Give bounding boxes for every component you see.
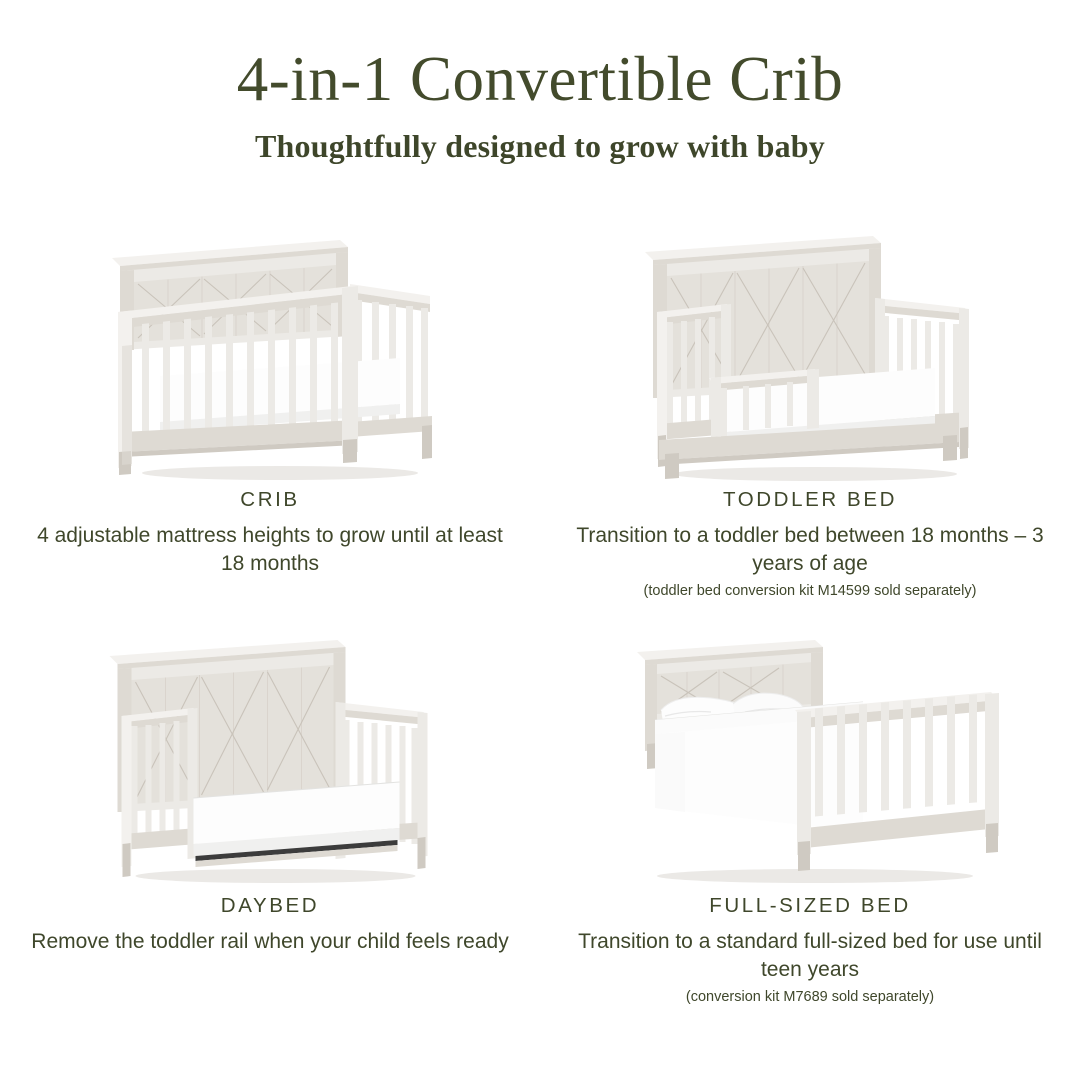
daybed-caption-title: DAYBED xyxy=(24,894,516,919)
toddler-bed-caption-body: Transition to a toddler bed between 18 m… xyxy=(564,522,1056,578)
crib-figure xyxy=(0,226,540,488)
full-sized-bed-caption-body: Transition to a standard full-sized bed … xyxy=(564,928,1056,984)
daybed-caption: DAYBED Remove the toddler rail when your… xyxy=(0,894,540,956)
daybed-caption-body: Remove the toddler rail when your child … xyxy=(24,928,516,956)
page-title: 4-in-1 Convertible Crib xyxy=(0,48,1080,111)
full-sized-bed-caption: FULL-SIZED BED Transition to a standard … xyxy=(540,894,1080,1007)
config-cell-toddler-bed: TODDLER BED Transition to a toddler bed … xyxy=(540,226,1080,632)
config-cell-full-sized-bed: FULL-SIZED BED Transition to a standard … xyxy=(540,632,1080,1032)
daybed-photo xyxy=(98,632,443,890)
toddler-bed-figure xyxy=(540,226,1080,488)
full-sized-bed-photo xyxy=(615,632,1005,890)
page-subtitle: Thoughtfully designed to grow with baby xyxy=(0,129,1080,164)
crib-caption-body: 4 adjustable mattress heights to grow un… xyxy=(24,522,516,578)
toddler-bed-caption-title: TODDLER BED xyxy=(564,488,1056,513)
full-sized-bed-figure xyxy=(540,632,1080,894)
config-cell-daybed: DAYBED Remove the toddler rail when your… xyxy=(0,632,540,1032)
crib-caption: CRIB 4 adjustable mattress heights to gr… xyxy=(0,488,540,577)
full-sized-bed-caption-note: (conversion kit M7689 sold separately) xyxy=(564,988,1056,1007)
crib-photo xyxy=(100,226,440,488)
crib-caption-title: CRIB xyxy=(24,488,516,513)
daybed-figure xyxy=(0,632,540,894)
toddler-bed-caption-note: (toddler bed conversion kit M14599 sold … xyxy=(564,582,1056,601)
configuration-grid: CRIB 4 adjustable mattress heights to gr… xyxy=(0,226,1080,1080)
config-cell-crib: CRIB 4 adjustable mattress heights to gr… xyxy=(0,226,540,632)
toddler-bed-caption: TODDLER BED Transition to a toddler bed … xyxy=(540,488,1080,601)
toddler-bed-photo xyxy=(635,226,985,488)
full-sized-bed-caption-title: FULL-SIZED BED xyxy=(564,894,1056,919)
page-header: 4-in-1 Convertible Crib Thoughtfully des… xyxy=(0,0,1080,164)
